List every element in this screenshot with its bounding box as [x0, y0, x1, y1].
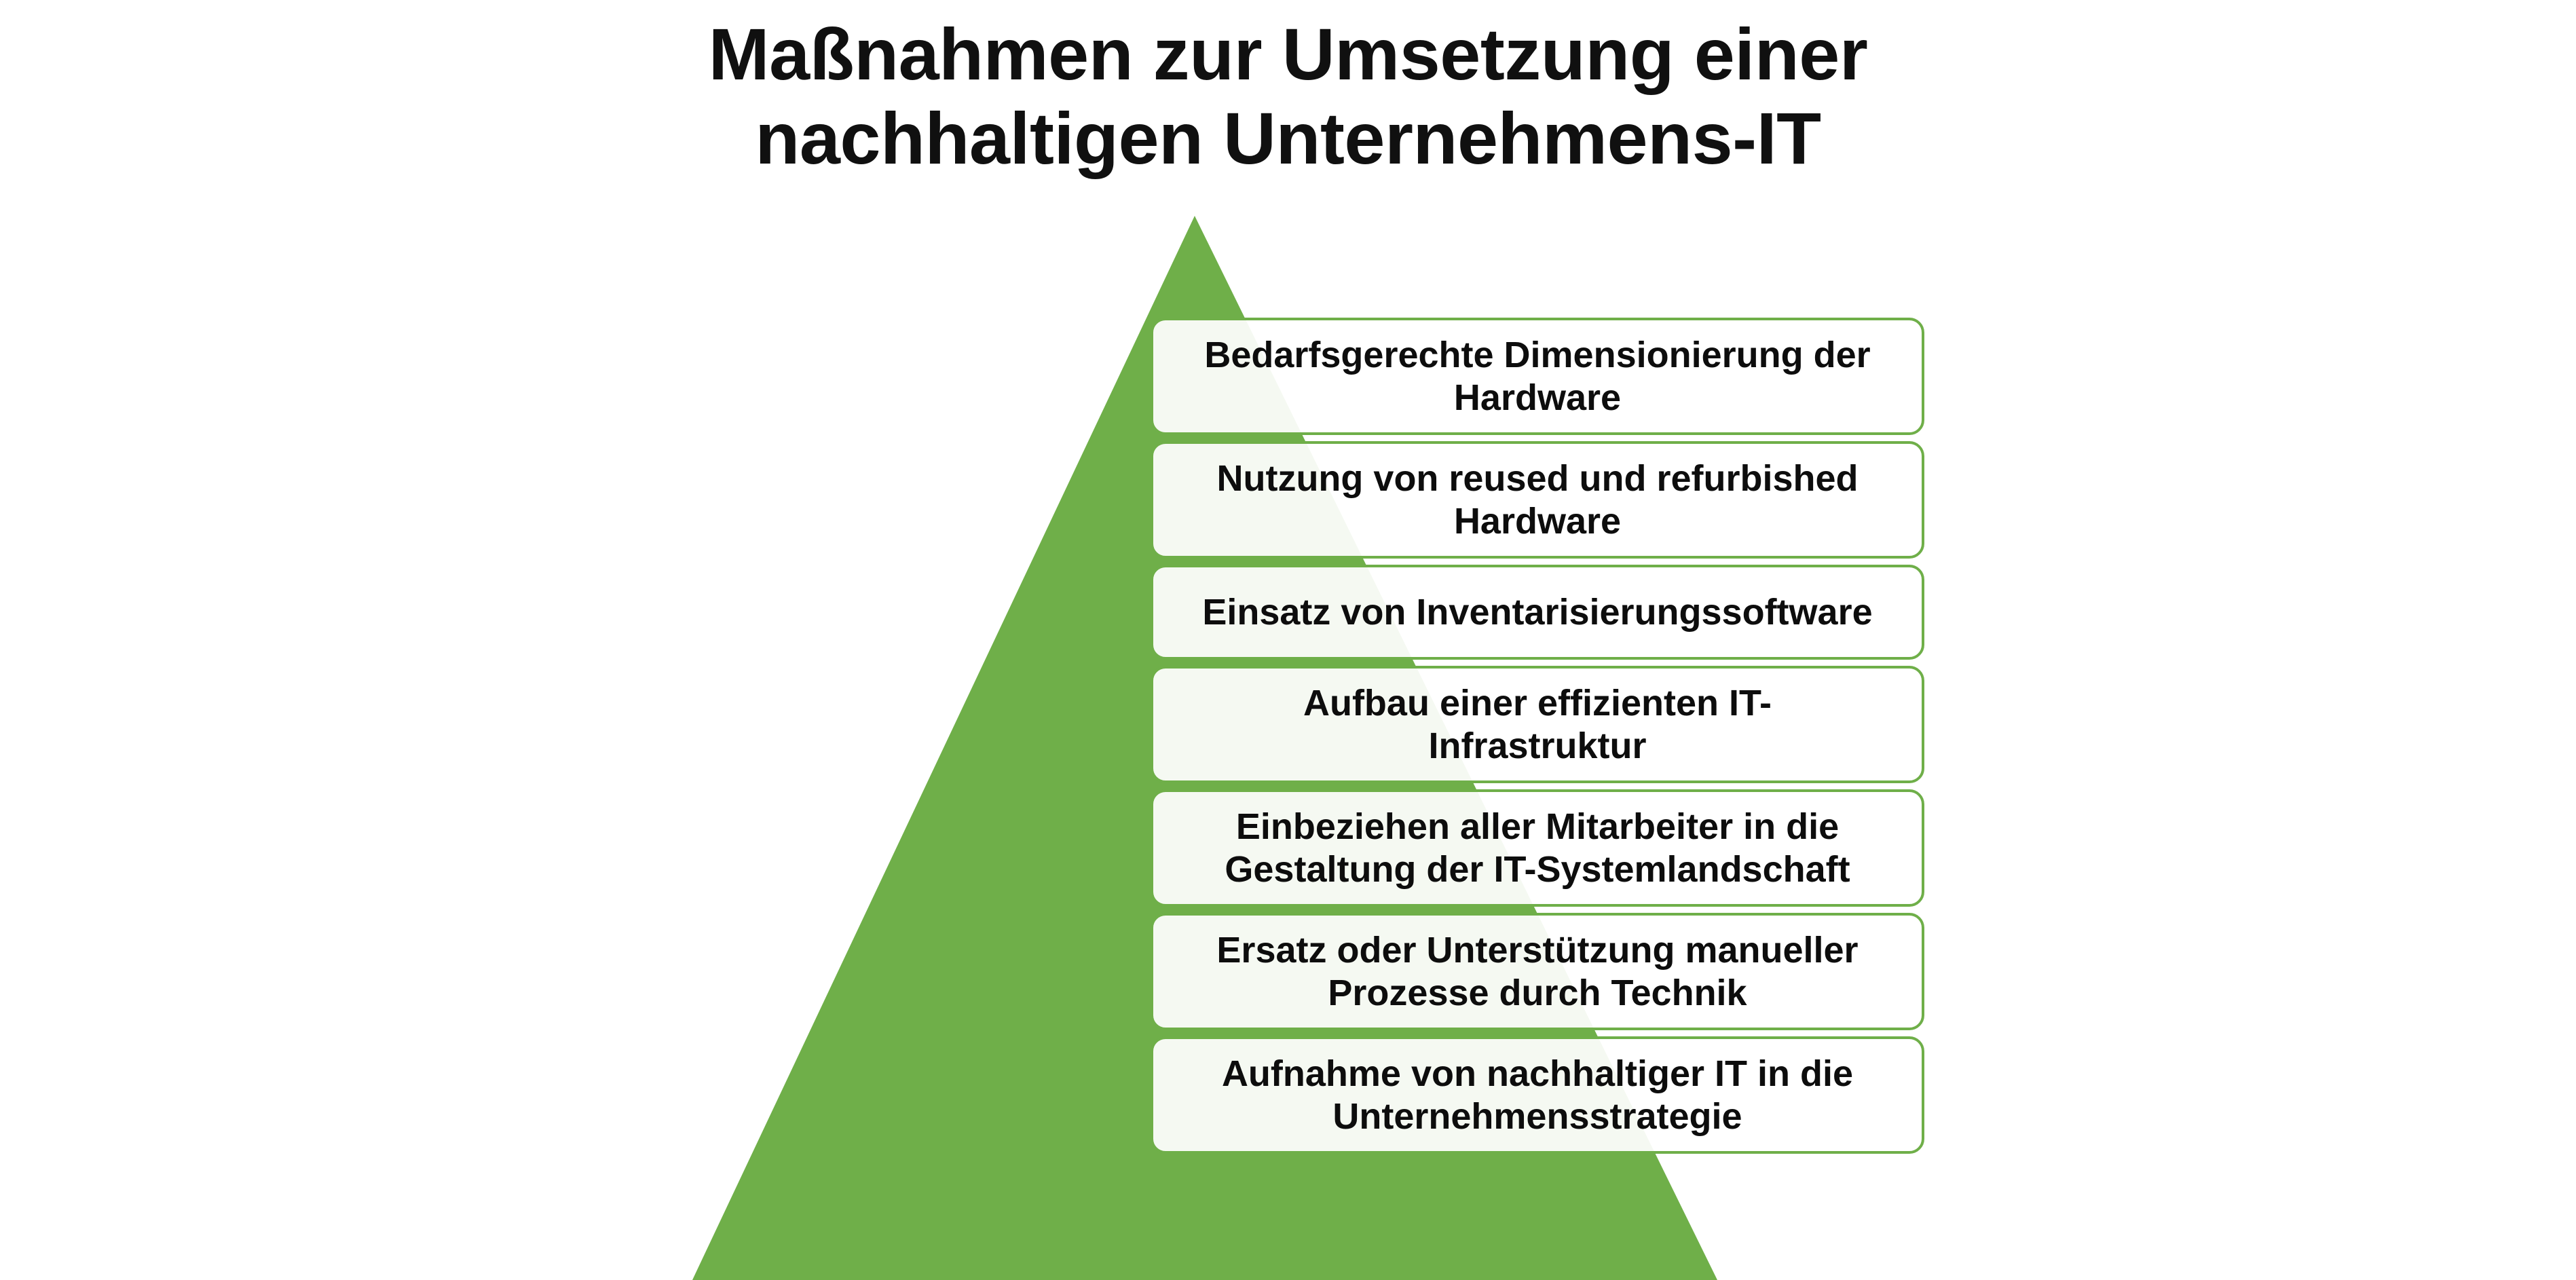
pyramid-level-2[interactable]: Nutzung von reused und refurbished Hardw…: [1151, 441, 1924, 559]
pyramid-level-4-label: Aufbau einer effizienten IT- Infrastrukt…: [1286, 682, 1789, 768]
pyramid-level-7[interactable]: Aufnahme von nachhaltiger IT in die Unte…: [1151, 1036, 1924, 1154]
pyramid-level-1[interactable]: Bedarfsgerechte Dimensionierung der Hard…: [1151, 318, 1924, 435]
pyramid-level-6[interactable]: Ersatz oder Unterstützung manueller Proz…: [1151, 913, 1924, 1030]
slide-canvas: Maßnahmen zur Umsetzung einer nachhaltig…: [0, 0, 2576, 1280]
pyramid-level-5-label: Einbeziehen aller Mitarbeiter in die Ges…: [1207, 806, 1867, 891]
pyramid-level-list: Bedarfsgerechte Dimensionierung der Hard…: [1151, 318, 1924, 1160]
pyramid-level-7-label: Aufnahme von nachhaltiger IT in die Unte…: [1204, 1053, 1871, 1138]
pyramid-level-1-label: Bedarfsgerechte Dimensionierung der Hard…: [1187, 334, 1888, 419]
pyramid-level-5[interactable]: Einbeziehen aller Mitarbeiter in die Ges…: [1151, 789, 1924, 907]
pyramid-level-2-label: Nutzung von reused und refurbished Hardw…: [1199, 457, 1875, 543]
pyramid-level-3[interactable]: Einsatz von Inventarisierungssoftware: [1151, 565, 1924, 660]
pyramid-level-6-label: Ersatz oder Unterstützung manueller Proz…: [1199, 929, 1875, 1015]
pyramid-level-4[interactable]: Aufbau einer effizienten IT- Infrastrukt…: [1151, 666, 1924, 783]
pyramid-level-3-label: Einsatz von Inventarisierungssoftware: [1184, 591, 1890, 634]
